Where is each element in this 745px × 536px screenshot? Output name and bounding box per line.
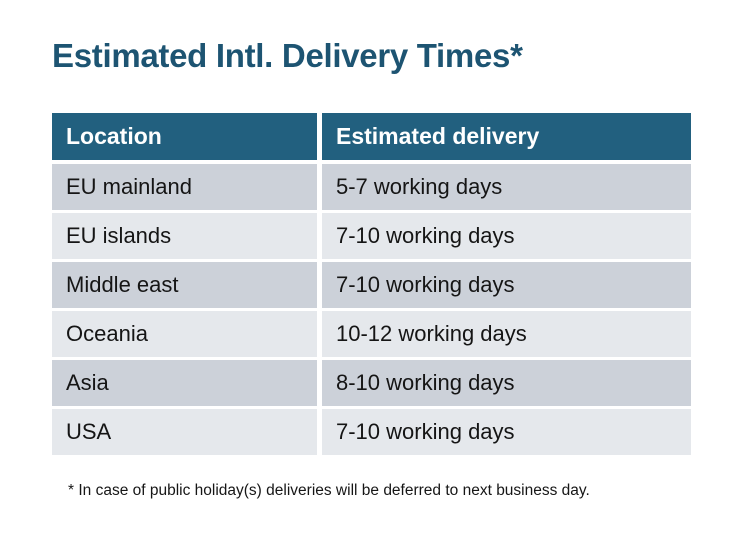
footnote-text: * In case of public holiday(s) deliverie…	[68, 481, 590, 501]
column-header-location: Location	[52, 113, 317, 160]
table-header-row: Location Estimated delivery	[52, 113, 691, 160]
table-row: EU islands 7-10 working days	[52, 213, 691, 259]
cell-location: Oceania	[52, 311, 317, 357]
cell-estimated-delivery: 10-12 working days	[322, 311, 691, 357]
delivery-times-page: Estimated Intl. Delivery Times* Location…	[0, 0, 745, 536]
cell-estimated-delivery: 8-10 working days	[322, 360, 691, 406]
table-row: Oceania 10-12 working days	[52, 311, 691, 357]
table-row: USA 7-10 working days	[52, 409, 691, 455]
cell-estimated-delivery: 5-7 working days	[322, 164, 691, 210]
column-header-estimated-delivery: Estimated delivery	[322, 113, 691, 160]
cell-estimated-delivery: 7-10 working days	[322, 409, 691, 455]
cell-location: USA	[52, 409, 317, 455]
cell-location: Middle east	[52, 262, 317, 308]
table-row: Asia 8-10 working days	[52, 360, 691, 406]
cell-estimated-delivery: 7-10 working days	[322, 262, 691, 308]
cell-location: EU mainland	[52, 164, 317, 210]
delivery-times-table: Location Estimated delivery EU mainland …	[52, 113, 691, 455]
cell-location: EU islands	[52, 213, 317, 259]
cell-location: Asia	[52, 360, 317, 406]
page-title: Estimated Intl. Delivery Times*	[52, 36, 523, 76]
table-row: EU mainland 5-7 working days	[52, 164, 691, 210]
cell-estimated-delivery: 7-10 working days	[322, 213, 691, 259]
table-row: Middle east 7-10 working days	[52, 262, 691, 308]
